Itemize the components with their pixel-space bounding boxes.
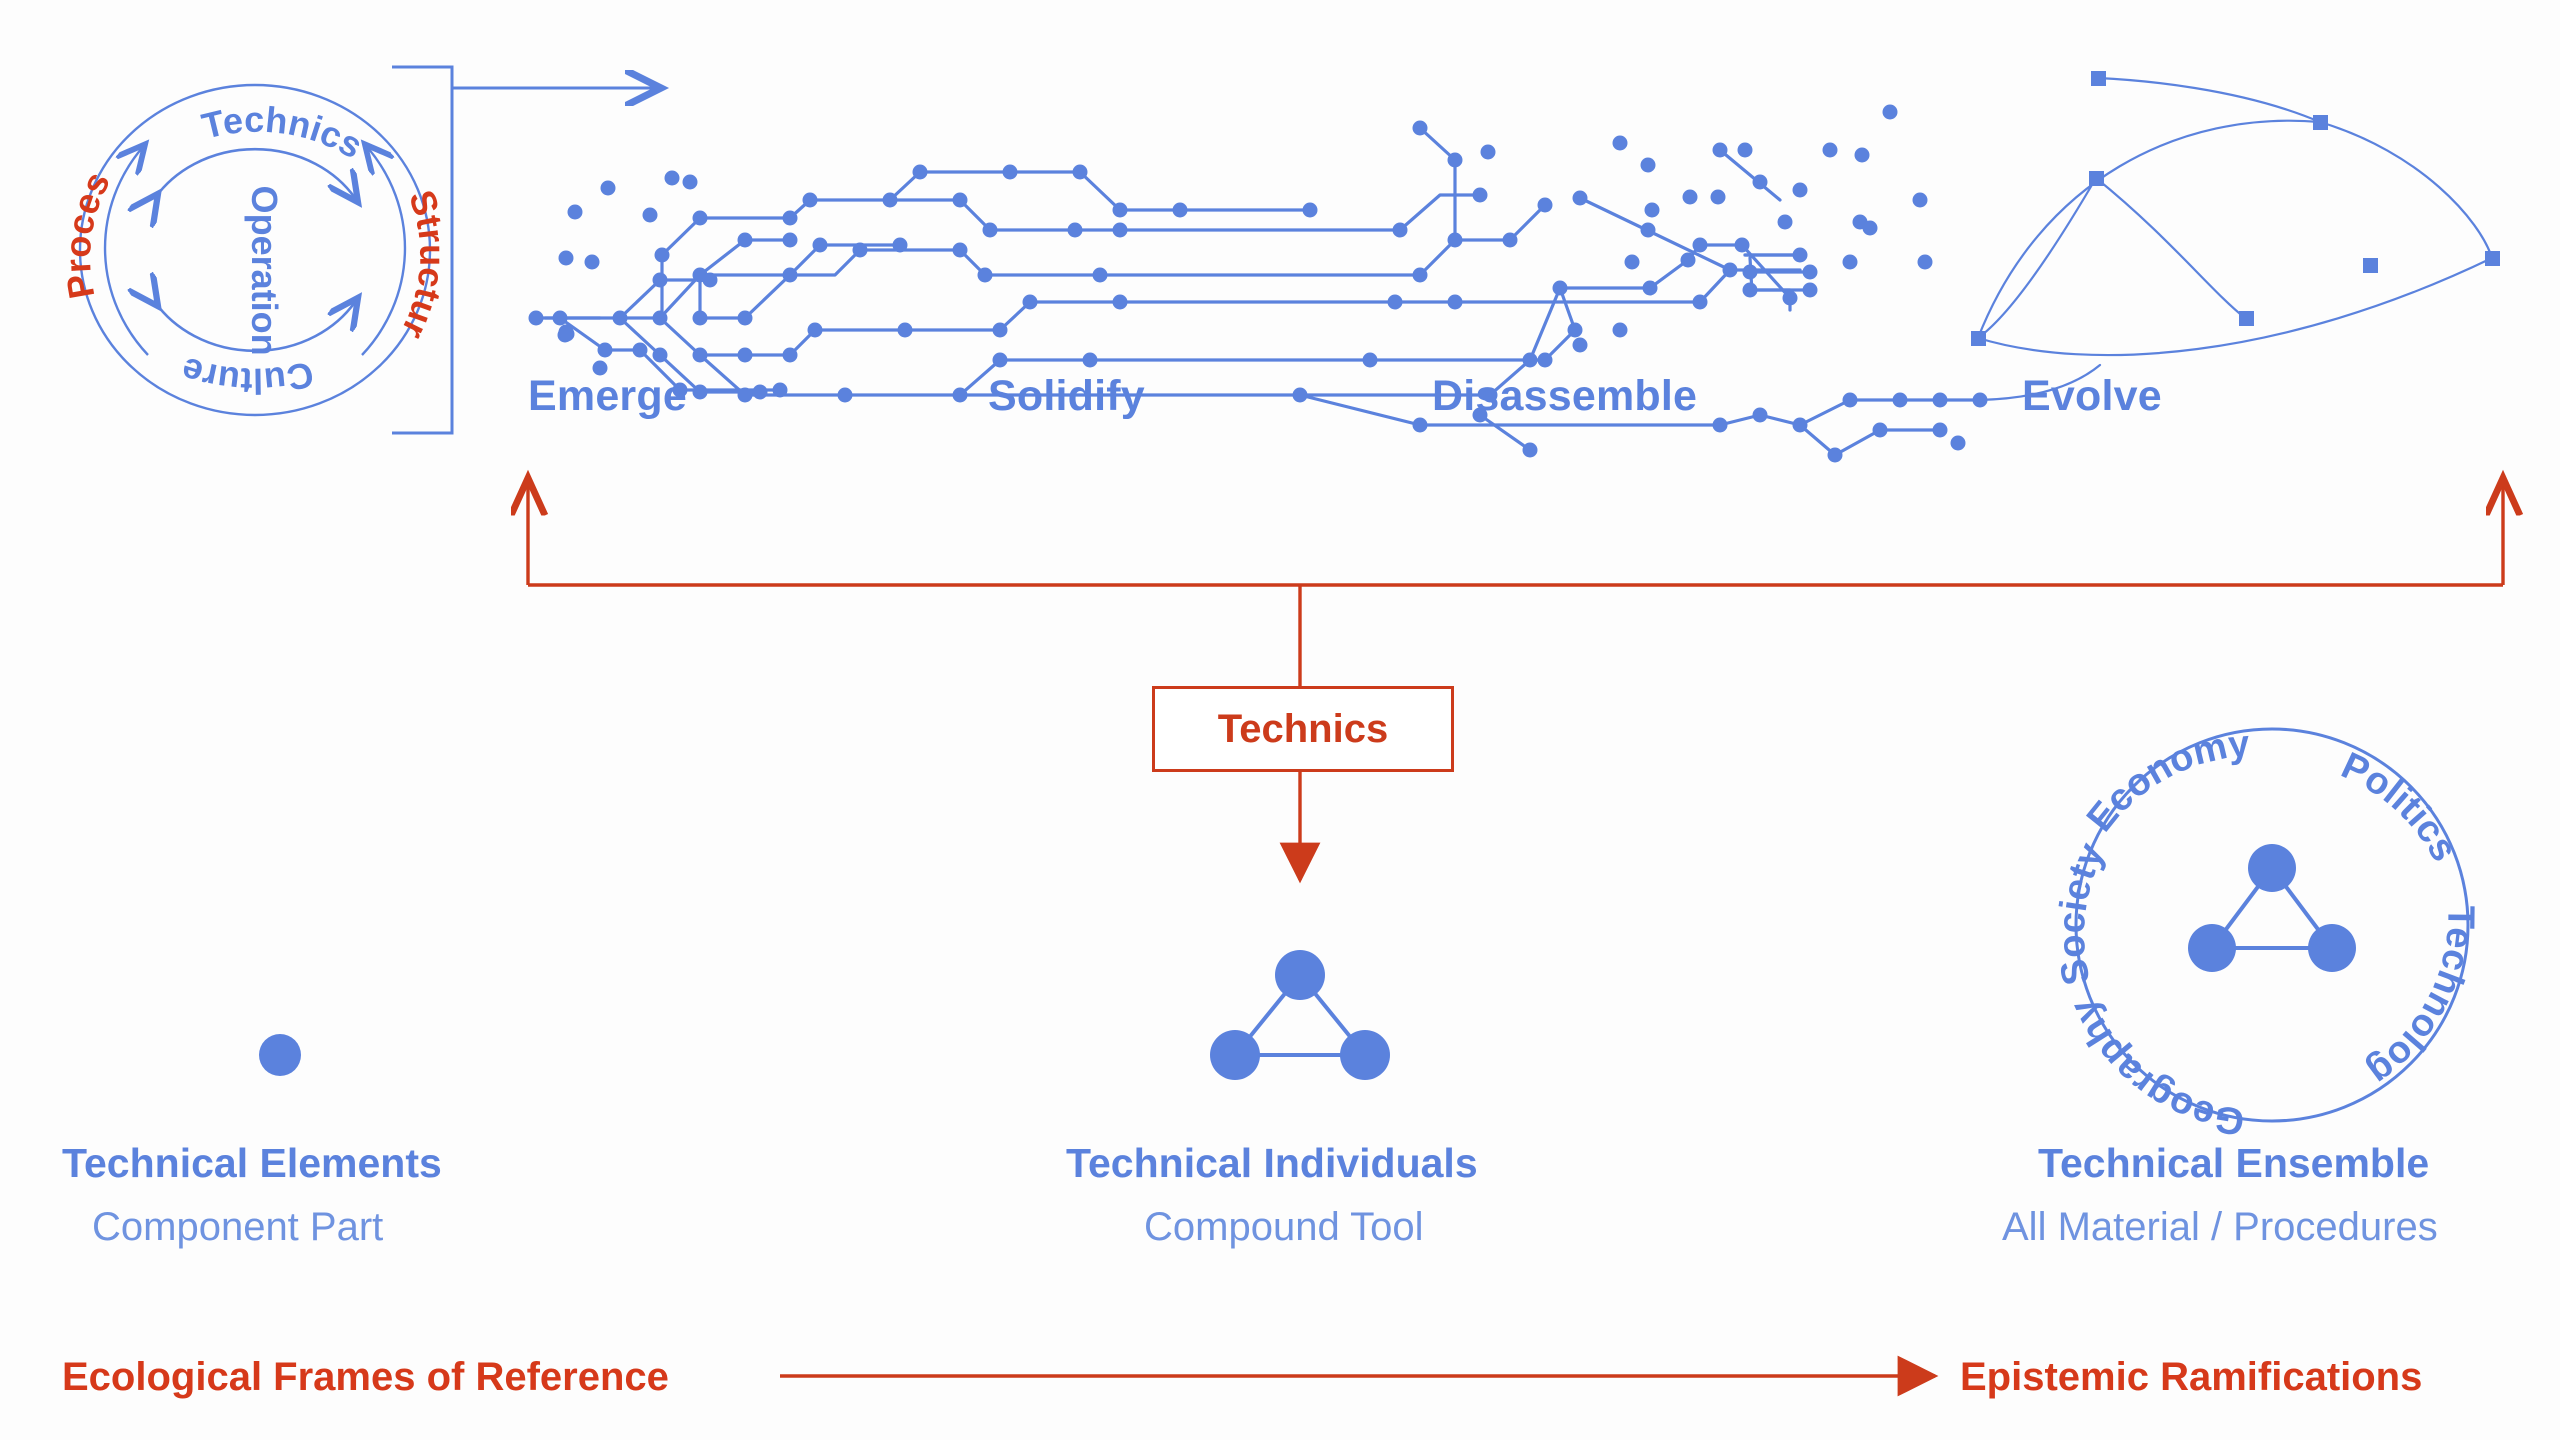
cycle-center-label: Operations [0, 0, 285, 356]
scale-subtitle-individuals: Compound Tool [1144, 1205, 1423, 1250]
stage-label-disassemble: Disassemble [1432, 372, 1697, 421]
cycle-diagram-text: Technics Process Structure Operations Cu… [0, 0, 453, 402]
technics-node-label: Technics [1218, 707, 1388, 752]
cycle-outer-left-arrow [105, 148, 148, 355]
stage-label-emerge: Emerge [528, 372, 687, 421]
cycle-bottom-label: Culture [176, 349, 317, 401]
ring-label-economy: Economy [2079, 723, 2251, 840]
diagram-canvas: Technics Process Structure Operations Cu… [0, 0, 2560, 1440]
ring-label-technology: Technology [0, 0, 2481, 1093]
ring-label-politics: Politics [2335, 745, 2465, 869]
red-connector-group [528, 478, 2503, 880]
network-nodes [529, 105, 1988, 463]
stage-label-evolve: Evolve [2022, 372, 2162, 421]
ring-label-society: Society [2051, 837, 2113, 989]
cycle-left-label: Process [0, 0, 118, 302]
ensemble-ring-text: Economy Politics Technology Geography So… [0, 0, 2481, 1143]
axis-label-left: Ecological Frames of Reference [62, 1355, 669, 1400]
scale-subtitle-elements: Component Part [92, 1205, 383, 1250]
scale-title-individuals: Technical Individuals [1066, 1140, 1478, 1187]
technical-individuals-glyph [1210, 950, 1390, 1080]
stage-label-solidify: Solidify [988, 372, 1145, 421]
scale-subtitle-ensemble: All Material / Procedures [2002, 1205, 2438, 1250]
technics-node-box[interactable]: Technics [1152, 686, 1454, 772]
technical-elements-glyph [259, 1034, 301, 1076]
evolve-square-nodes [1971, 71, 2500, 346]
scale-title-ensemble: Technical Ensemble [2038, 1140, 2429, 1187]
axis-label-right: Epistemic Ramifications [1960, 1355, 2422, 1400]
scale-title-elements: Technical Elements [62, 1140, 442, 1187]
ring-label-geography: Geography [2062, 992, 2247, 1142]
